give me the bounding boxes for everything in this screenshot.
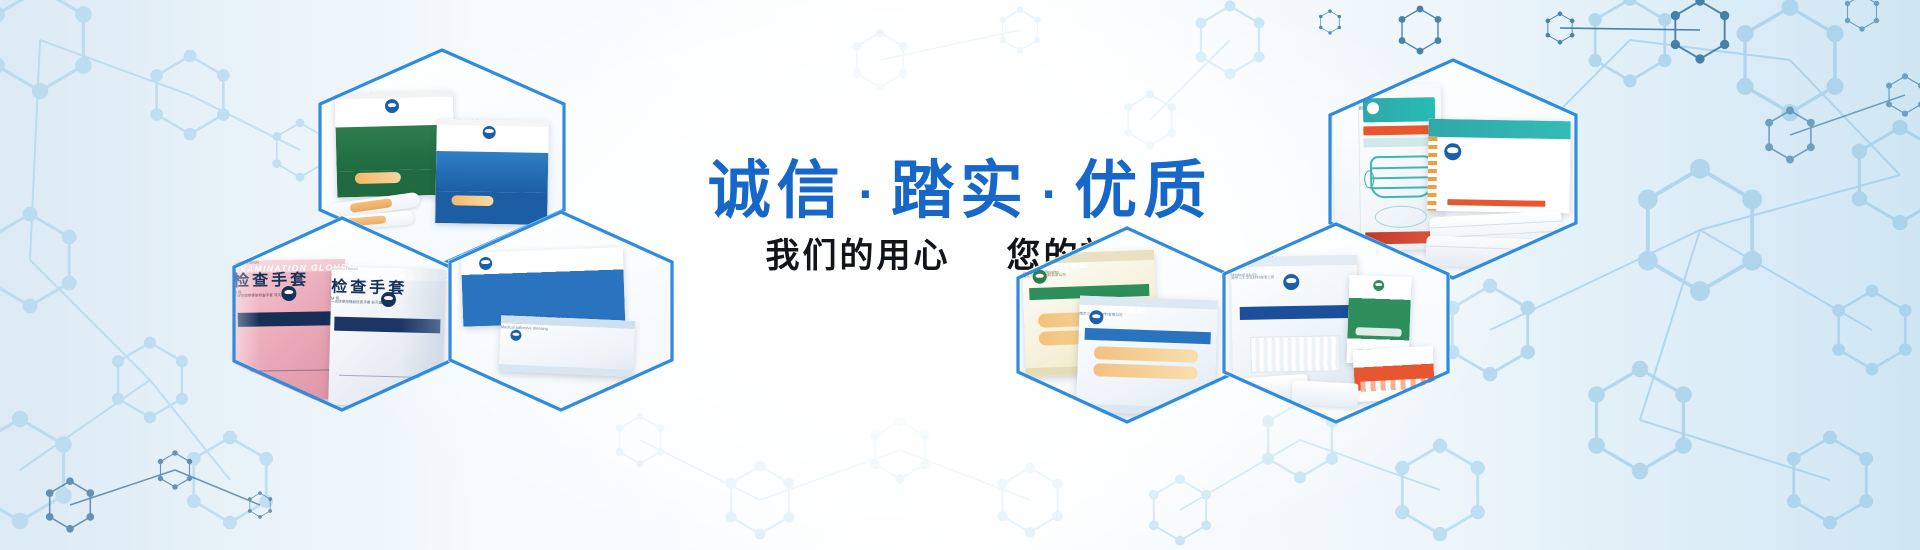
headline-part-1: 诚信 [708,154,846,227]
banner-subheadline: 我们的用心您的放心 [0,228,1920,277]
headline-separator-2: · [1029,172,1074,218]
headline-separator-1: · [846,172,891,218]
promo-banner: SanmuTianshi 创口贴 医用敷料 Wound plaster 100片… [0,0,1920,550]
hex-frame-gauze [1222,222,1450,424]
banner-headline: 诚信·踏实·优质 [0,140,1920,231]
subheadline-left: 我们的用心 [766,236,951,276]
hex-frame-adhesive [1016,226,1238,424]
hex-adhesive: SANMUTianshi 一次性使用敷贴 Disposable dressing… [1016,226,1238,424]
hex-gauze: Sanmu Tianshi 医用纱布块 Medical gauze 南京三木卫生… [1222,222,1450,424]
headline-part-2: 踏实 [891,154,1029,227]
headline-part-3: 优质 [1074,154,1212,227]
